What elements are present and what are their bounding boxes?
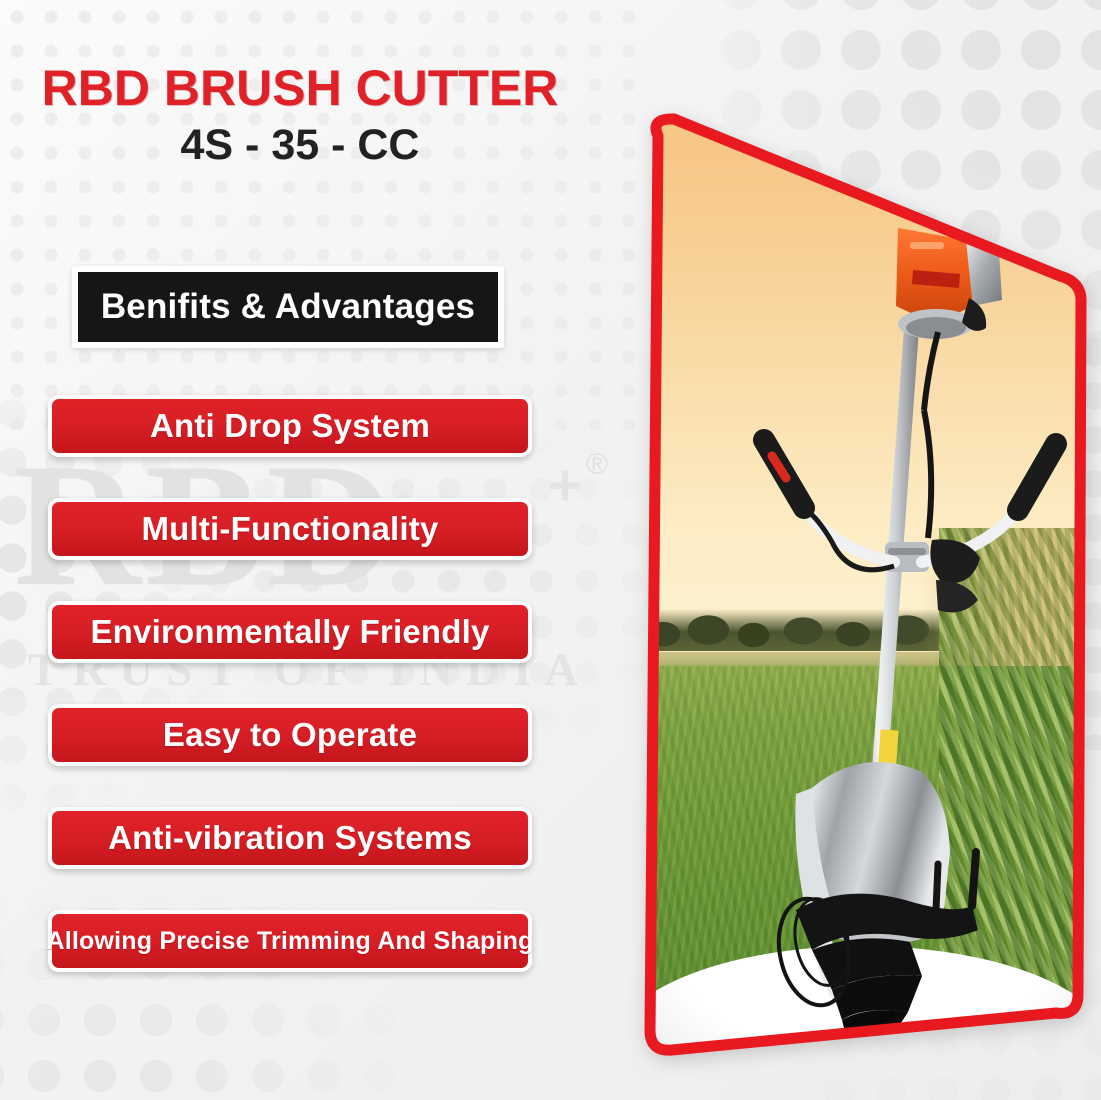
benefit-item-environmentally-friendly[interactable]: Environmentally Friendly <box>48 601 532 663</box>
benefits-header-label: Benifits & Advantages <box>101 287 475 327</box>
benefit-item-anti-drop-system[interactable]: Anti Drop System <box>48 395 532 457</box>
benefit-item-easy-to-operate[interactable]: Easy to Operate <box>48 704 532 766</box>
benefit-label: Anti-vibration Systems <box>108 819 472 857</box>
benefits-list: Anti Drop System Multi-Functionality Env… <box>48 395 532 972</box>
watermark-plus-icon: + <box>548 466 588 506</box>
product-photo-panel <box>636 110 1088 1060</box>
benefit-item-anti-vibration-systems[interactable]: Anti-vibration Systems <box>48 807 532 869</box>
product-poster: RBD + ® TRUST OF INDIA RBD BRUSH CUTTER … <box>0 0 1101 1100</box>
product-title: RBD BRUSH CUTTER <box>0 62 600 114</box>
photo-frame-border <box>636 110 1088 1060</box>
benefit-label: Environmentally Friendly <box>90 613 489 651</box>
benefit-item-multi-functionality[interactable]: Multi-Functionality <box>48 498 532 560</box>
page-title: RBD BRUSH CUTTER 4S - 35 - CC <box>0 62 600 172</box>
benefit-item-precise-trimming[interactable]: Allowing Precise Trimming And Shaping <box>48 910 532 972</box>
benefits-header-plate: Benifits & Advantages <box>78 272 498 342</box>
benefit-label: Easy to Operate <box>163 716 417 754</box>
benefit-label: Allowing Precise Trimming And Shaping <box>46 927 533 956</box>
benefit-label: Multi-Functionality <box>141 510 438 548</box>
benefit-label: Anti Drop System <box>150 407 430 445</box>
benefits-section-header: Benifits & Advantages <box>72 266 504 348</box>
product-model-title: 4S - 35 - CC <box>0 120 600 172</box>
registered-mark-icon: ® <box>586 448 608 482</box>
